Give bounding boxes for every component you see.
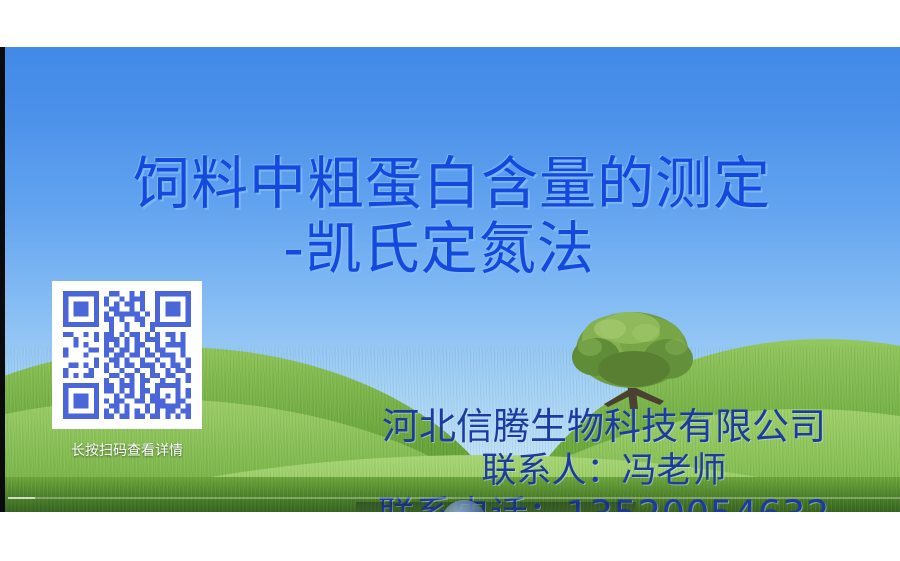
tree-icon — [560, 309, 708, 414]
qr-code-icon[interactable] — [52, 281, 202, 429]
title-line-2: -凯氏定氮法 — [4, 217, 900, 281]
video-title-block: 饲料中粗蛋白含量的测定 -凯氏定氮法 — [4, 151, 900, 281]
letterbox-left-bar — [0, 47, 5, 512]
title-line-1: 饲料中粗蛋白含量的测定 — [4, 151, 900, 217]
qr-code-caption: 长按扫码查看详情 — [52, 442, 202, 460]
player-progress-filled — [8, 497, 35, 499]
company-name: 河北信腾生物科技有限公司 — [304, 405, 900, 449]
video-player-viewport[interactable]: 饲料中粗蛋白含量的测定 -凯氏定氮法 — [0, 47, 900, 512]
video-scene: 饲料中粗蛋白含量的测定 -凯氏定氮法 — [4, 47, 900, 512]
player-progress-bar[interactable] — [8, 497, 900, 499]
contact-info-block: 河北信腾生物科技有限公司 联系人：冯老师 联系电话：13520054632 — [304, 405, 900, 512]
qr-code-block[interactable]: 长按扫码查看详情 — [52, 281, 202, 460]
video-poster-page: 饲料中粗蛋白含量的测定 -凯氏定氮法 — [0, 0, 900, 561]
contact-person: 联系人：冯老师 — [304, 449, 900, 493]
player-control-shade — [356, 502, 636, 512]
